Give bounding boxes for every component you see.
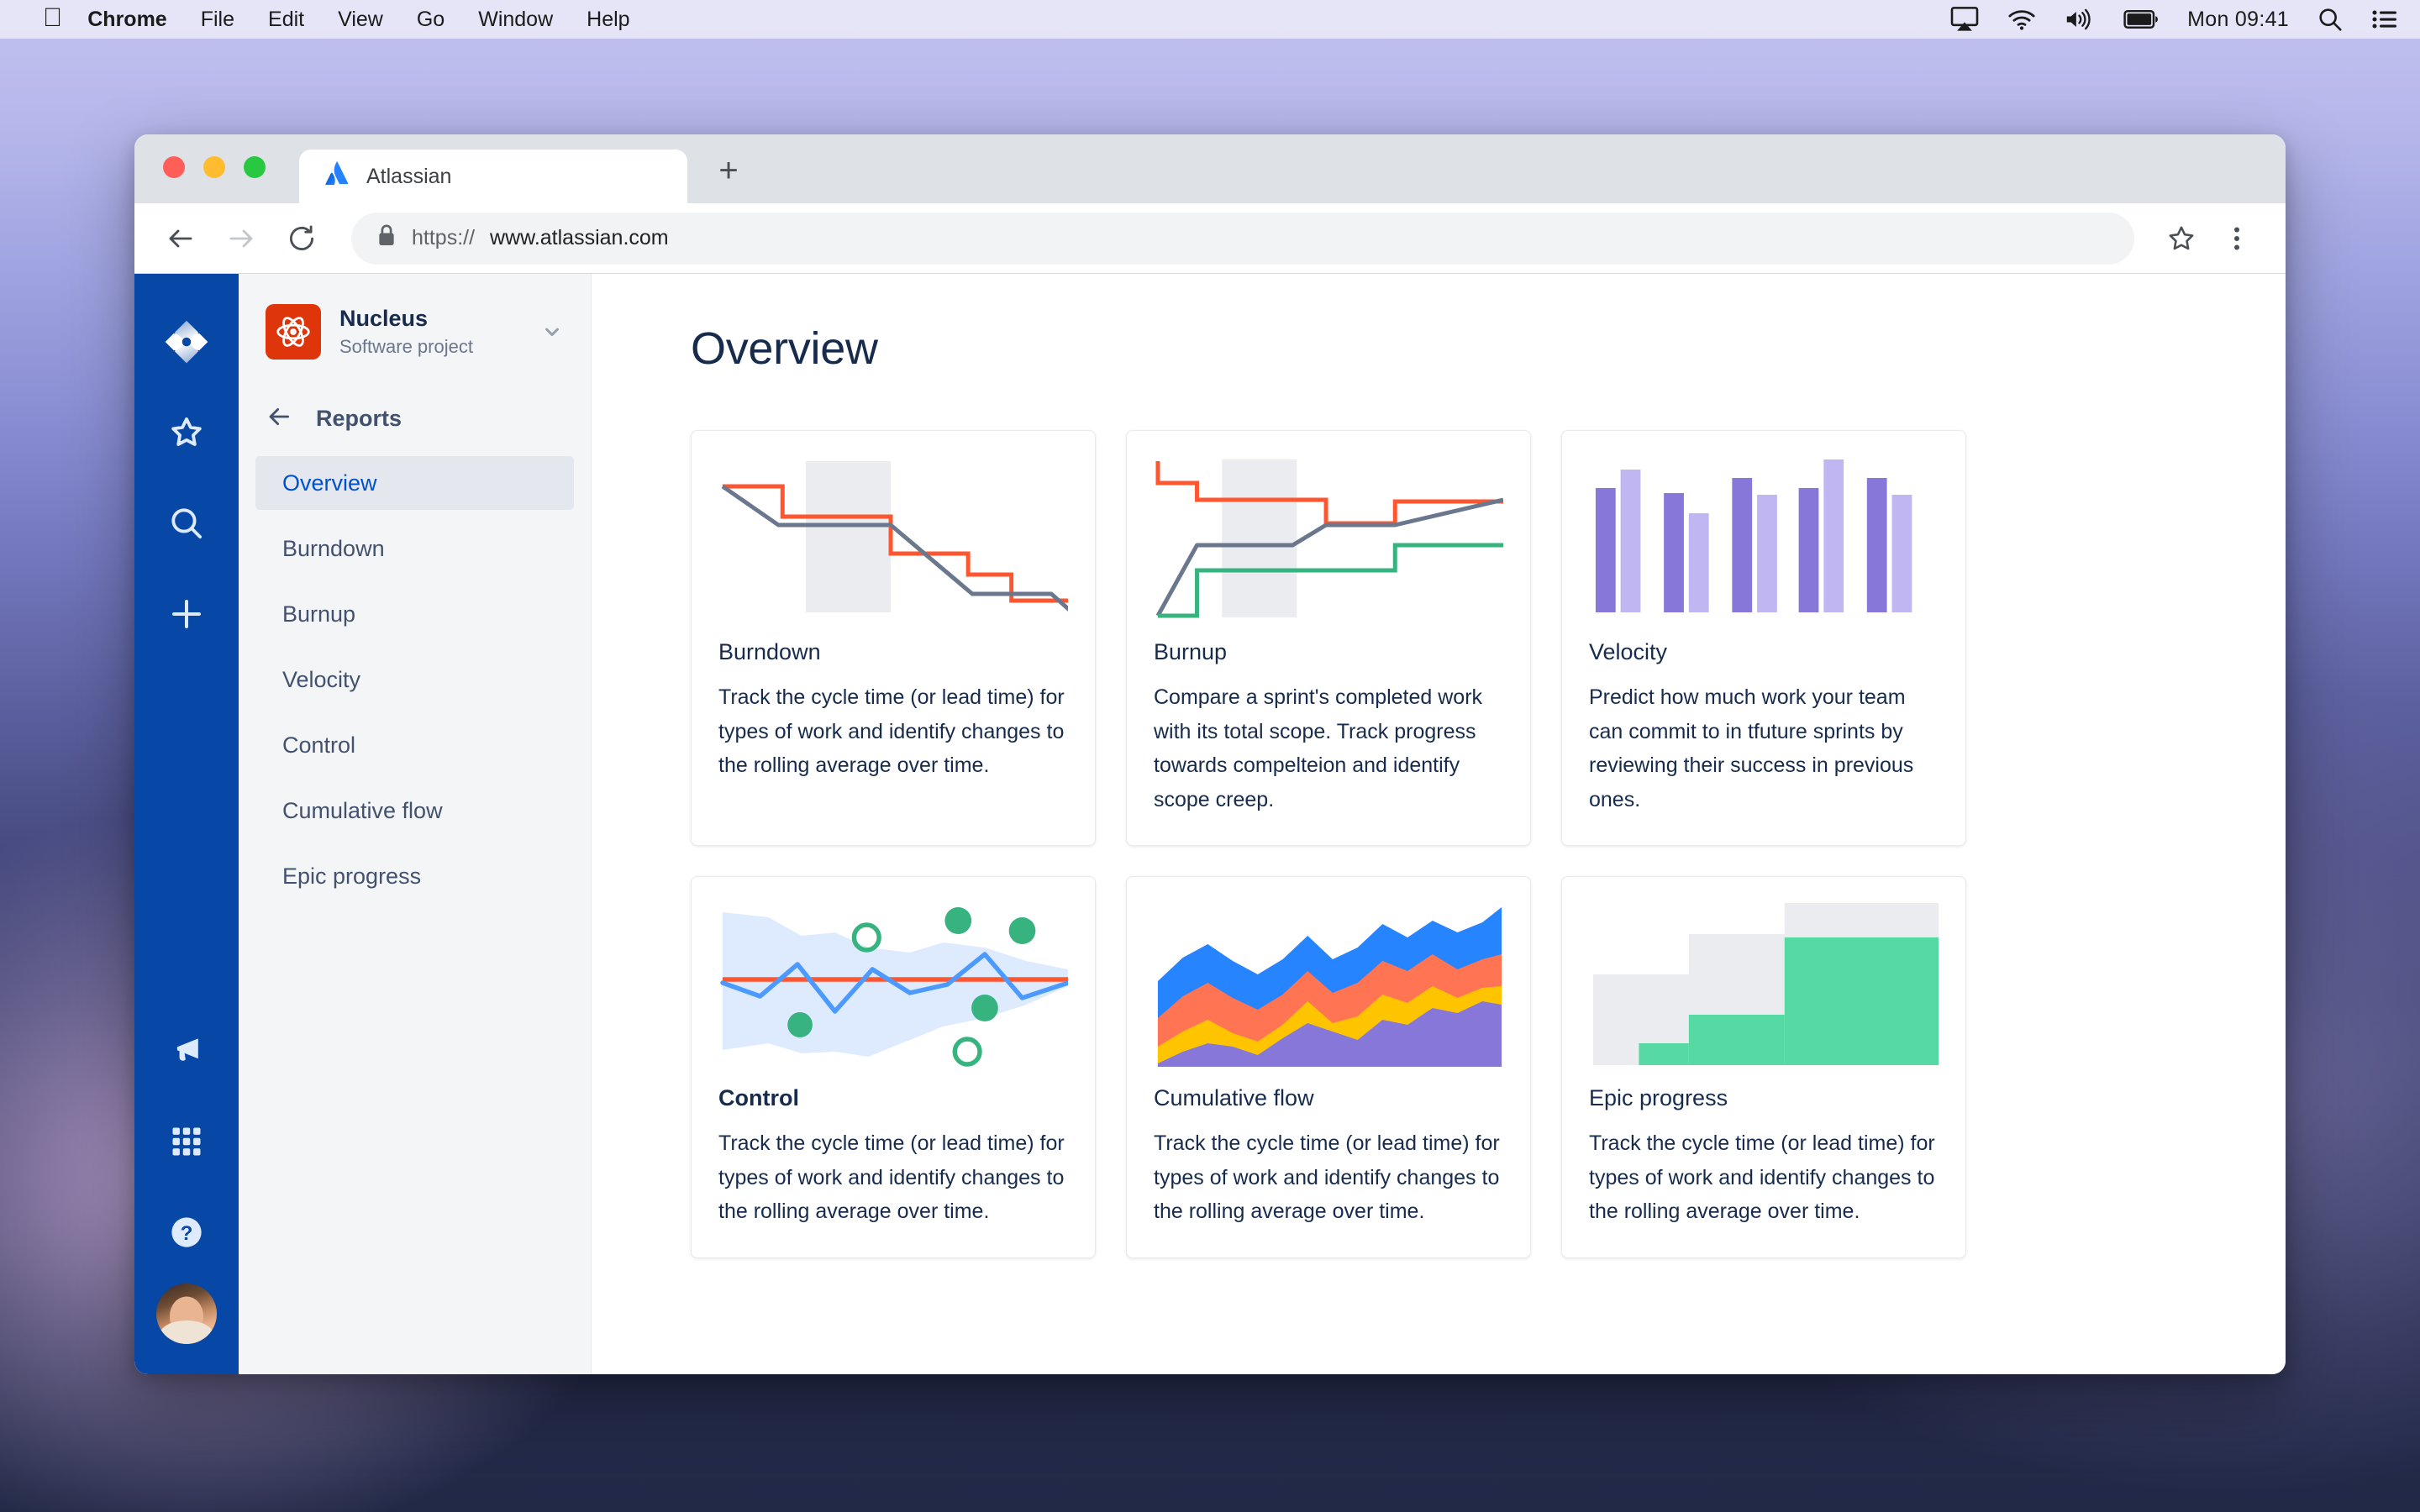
sidebar-section-header: Reports (239, 403, 591, 434)
main-content: Overview Burndown Track the cycle ti (592, 274, 2286, 1374)
menu-bar-status-area: Mon 09:41 (1950, 7, 2398, 32)
menu-item-go[interactable]: Go (417, 8, 445, 32)
app-switcher-icon[interactable] (154, 1109, 219, 1174)
search-icon[interactable] (154, 491, 219, 556)
report-card-title: Burndown (718, 639, 1068, 665)
forward-arrow-icon[interactable] (215, 213, 267, 265)
star-outline-icon[interactable] (2158, 215, 2205, 262)
minimize-button[interactable] (203, 156, 225, 178)
menu-item-chrome[interactable]: Chrome (87, 8, 166, 32)
report-card-burndown[interactable]: Burndown Track the cycle time (or lead t… (691, 430, 1096, 846)
jira-logo-icon[interactable] (154, 309, 219, 375)
apple-menu-icon[interactable]:  (43, 4, 62, 30)
atom-project-icon (266, 304, 321, 360)
sidebar-item-control[interactable]: Control (255, 718, 574, 772)
airplay-icon[interactable] (1950, 7, 1979, 32)
browser-toolbar: https:// www.atlassian.com (134, 203, 2286, 274)
project-switcher[interactable]: Nucleus Software project (239, 304, 591, 360)
jira-global-nav-rail: ? (134, 274, 239, 1374)
starred-icon[interactable] (154, 400, 219, 465)
browser-tab-atlassian[interactable]: Atlassian (299, 150, 687, 203)
report-card-title: Control (718, 1085, 1068, 1111)
control-center-icon[interactable] (2371, 8, 2398, 30)
page-title: Overview (691, 323, 2227, 375)
menu-item-view[interactable]: View (338, 8, 383, 32)
burnup-chart-thumbnail (1154, 453, 1503, 621)
sidebar-item-overview[interactable]: Overview (255, 456, 574, 510)
epic-progress-chart-thumbnail (1589, 899, 1939, 1067)
sidebar-item-epic-progress[interactable]: Epic progress (255, 849, 574, 903)
report-card-description: Track the cycle time (or lead time) for … (1154, 1126, 1503, 1229)
burndown-chart-thumbnail (718, 453, 1068, 621)
project-info: Nucleus Software project (339, 306, 517, 357)
browser-tab-strip: Atlassian + (134, 134, 2286, 203)
window-traffic-lights (163, 156, 266, 178)
cumulative-flow-chart-thumbnail (1154, 899, 1503, 1067)
battery-icon[interactable] (2123, 10, 2159, 29)
report-card-title: Epic progress (1589, 1085, 1939, 1111)
project-type: Software project (339, 336, 517, 358)
menu-item-help[interactable]: Help (587, 8, 629, 32)
report-card-velocity[interactable]: Velocity Predict how much work your team… (1561, 430, 1966, 846)
kebab-menu-icon[interactable] (2213, 215, 2260, 262)
reload-icon[interactable] (276, 213, 328, 265)
chevron-down-icon[interactable] (535, 320, 569, 344)
report-card-epic-progress[interactable]: Epic progress Track the cycle time (or l… (1561, 876, 1966, 1258)
report-card-description: Compare a sprint's completed work with i… (1154, 680, 1503, 816)
report-card-description: Track the cycle time (or lead time) for … (718, 680, 1068, 783)
menu-item-edit[interactable]: Edit (268, 8, 304, 32)
reports-card-grid: Burndown Track the cycle time (or lead t… (691, 430, 2227, 1258)
project-sidebar: Nucleus Software project Reports Overvie… (239, 274, 592, 1374)
url-host: www.atlassian.com (490, 226, 669, 250)
report-card-control[interactable]: Control Track the cycle time (or lead ti… (691, 876, 1096, 1258)
menu-item-file[interactable]: File (201, 8, 234, 32)
rail-bottom-group: ? (154, 1018, 219, 1374)
sidebar-item-cumulative-flow[interactable]: Cumulative flow (255, 784, 574, 837)
velocity-chart-thumbnail (1589, 453, 1939, 621)
menu-bar-clock[interactable]: Mon 09:41 (2187, 8, 2289, 32)
browser-tab-title: Atlassian (366, 165, 451, 189)
lock-icon[interactable] (376, 223, 397, 253)
report-card-description: Track the cycle time (or lead time) for … (1589, 1126, 1939, 1229)
report-card-description: Predict how much work your team can comm… (1589, 680, 1939, 816)
volume-icon[interactable] (2065, 8, 2095, 30)
close-button[interactable] (163, 156, 185, 178)
macos-menu-bar:  Chrome File Edit View Go Window Help M… (0, 0, 2420, 39)
back-arrow-icon[interactable] (155, 213, 207, 265)
sidebar-item-velocity[interactable]: Velocity (255, 653, 574, 706)
announcement-bell-icon[interactable] (154, 1018, 219, 1084)
atlassian-logo-icon (324, 161, 350, 192)
menu-item-window[interactable]: Window (478, 8, 553, 32)
help-icon[interactable]: ? (154, 1200, 219, 1265)
address-bar[interactable]: https:// www.atlassian.com (351, 213, 2134, 265)
chrome-browser-window: Atlassian + https:// www.atlassian.com (134, 134, 2286, 1374)
new-tab-button[interactable]: + (706, 148, 751, 193)
jira-app: ? (134, 274, 2286, 1374)
back-arrow-icon[interactable] (266, 403, 292, 434)
avatar[interactable] (156, 1284, 217, 1344)
sidebar-item-burnup[interactable]: Burnup (255, 587, 574, 641)
wifi-icon[interactable] (2007, 8, 2036, 30)
report-card-cumulative-flow[interactable]: Cumulative flow Track the cycle time (or… (1126, 876, 1531, 1258)
svg-text:?: ? (181, 1222, 193, 1245)
create-icon[interactable] (154, 581, 219, 647)
report-card-title: Burnup (1154, 639, 1503, 665)
report-card-description: Track the cycle time (or lead time) for … (718, 1126, 1068, 1229)
report-card-title: Velocity (1589, 639, 1939, 665)
report-card-burnup[interactable]: Burnup Compare a sprint's completed work… (1126, 430, 1531, 846)
spotlight-search-icon[interactable] (2317, 7, 2343, 32)
desktop-wallpaper:  Chrome File Edit View Go Window Help M… (0, 0, 2420, 1512)
sidebar-section-title: Reports (316, 406, 402, 432)
project-name: Nucleus (339, 306, 517, 332)
maximize-button[interactable] (244, 156, 266, 178)
sidebar-item-burndown[interactable]: Burndown (255, 522, 574, 575)
report-card-title: Cumulative flow (1154, 1085, 1503, 1111)
url-scheme: https:// (412, 226, 475, 250)
control-chart-thumbnail (718, 899, 1068, 1067)
